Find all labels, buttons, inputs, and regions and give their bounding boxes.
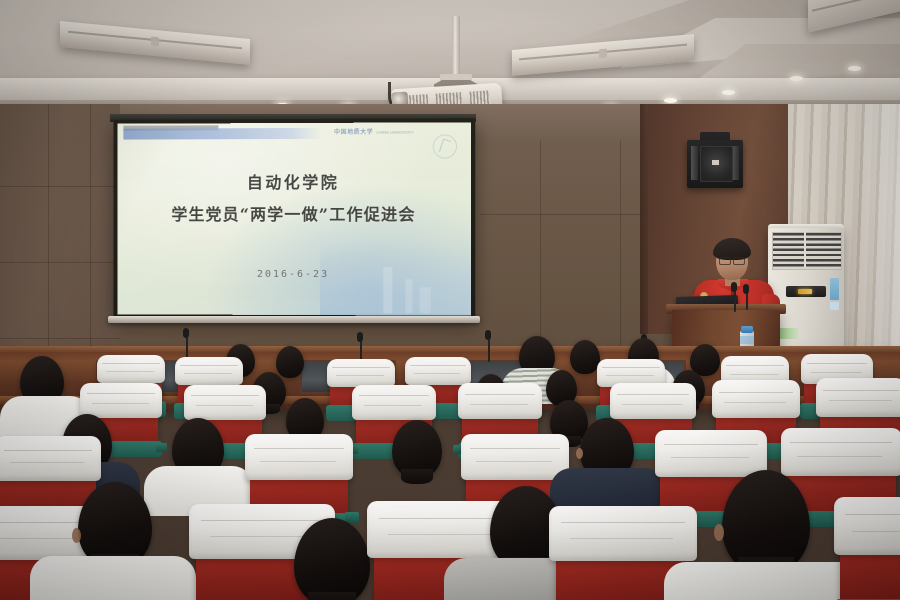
ac-louver-grille — [772, 232, 842, 270]
audience-head — [294, 518, 370, 600]
downlight-icon — [722, 90, 735, 95]
lecture-hall-photo: 中国地质大学CHINA UNIVERSITY 自动化学院 学生党员“两学一做”工… — [0, 0, 900, 600]
slide-header-band — [123, 128, 322, 140]
microphone-icon — [743, 284, 749, 294]
chair — [840, 512, 900, 600]
slide-emblem-icon — [433, 134, 457, 158]
ac-brand-text — [792, 278, 793, 282]
wall-panel-seam — [0, 338, 120, 339]
slide-watermark-building — [405, 279, 412, 313]
projector-mount-pole — [452, 16, 460, 78]
bottle-cap — [741, 326, 753, 333]
slide-watermark-building — [420, 287, 431, 313]
wall-panel-seam — [540, 140, 541, 355]
microphone-icon — [731, 282, 737, 292]
slide-university-logo: 中国地质大学CHINA UNIVERSITY — [334, 127, 414, 136]
audience-shoulders — [30, 556, 196, 600]
downlight-icon — [664, 98, 677, 103]
downlight-icon — [848, 66, 861, 71]
wall-panel-seam — [0, 186, 120, 187]
wall-panel-seam — [620, 140, 621, 355]
microphone-icon — [357, 332, 363, 342]
wall-panel-seam — [480, 214, 650, 215]
slide-title: 自动化学院 — [117, 169, 471, 194]
downlight-icon — [790, 76, 803, 81]
slide-date: 2016-6-23 — [117, 269, 471, 281]
audience-shoulders — [664, 562, 864, 600]
ac-label-sticker — [830, 278, 839, 300]
screen-weight-bar — [108, 316, 480, 323]
projection-screen: 中国地质大学CHINA UNIVERSITY 自动化学院 学生党员“两学一做”工… — [117, 122, 471, 315]
slide-subtitle: 学生党员“两学一做”工作促进会 — [117, 201, 471, 225]
ac-label-sticker — [830, 302, 839, 310]
audience-head — [570, 340, 600, 374]
audience-head — [276, 346, 304, 378]
wall-panel-seam — [0, 262, 120, 263]
bottle-label — [740, 336, 754, 344]
microphone-icon — [183, 328, 189, 338]
audience-head — [392, 420, 442, 478]
microphone-icon — [485, 330, 491, 340]
projector-mount-plate — [440, 74, 472, 81]
wall-speaker-icon — [687, 140, 743, 188]
glasses-icon — [719, 257, 745, 263]
ac-display-panel — [786, 286, 826, 297]
